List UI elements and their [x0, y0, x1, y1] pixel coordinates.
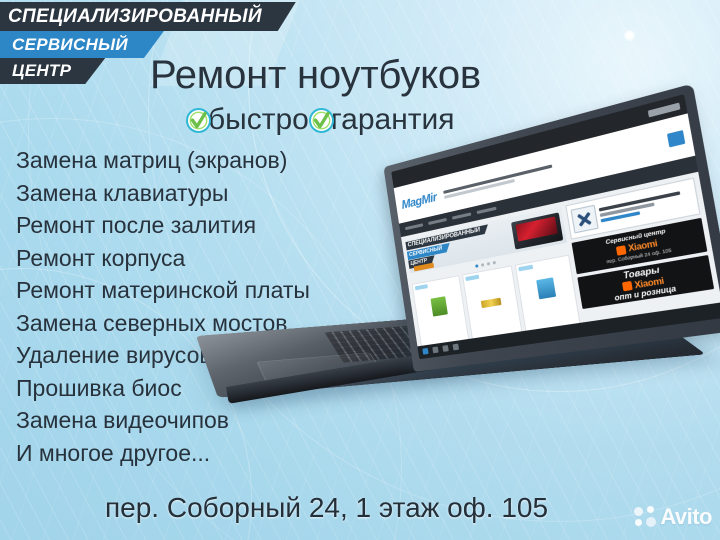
tools-icon: [570, 204, 598, 233]
xiaomi-logo-icon: [616, 245, 627, 256]
site-logo: MagMir: [401, 190, 438, 212]
screen-service-card-text: [599, 189, 694, 223]
avito-watermark: Avito: [634, 504, 712, 530]
address-text: пер. Соборный 24, 1 этаж оф. 105: [105, 492, 548, 524]
start-icon: [422, 348, 428, 355]
cart-icon: [648, 102, 681, 117]
taskbar-icon: [453, 344, 460, 351]
taskbar-icon: [442, 345, 448, 352]
laptop-illustration: MagMir СПЕЦИАЛИЗИРОВАННЫЙ СЕРВИСНЫЙ ЦЕНТ…: [196, 160, 712, 460]
page-title: Ремонт ноутбуков: [150, 53, 481, 98]
avito-label: Avito: [660, 504, 712, 530]
green-check-circle-icon: [186, 108, 211, 133]
advertisement-image: СПЕЦИАЛИЗИРОВАННЫЙ СЕРВИСНЫЙ ЦЕНТР Ремон…: [0, 0, 720, 540]
banner-line-specialized: СПЕЦИАЛИЗИРОВАННЫЙ: [0, 2, 296, 31]
badge-label-warranty: гарантия: [331, 103, 455, 137]
search-icon: [667, 130, 685, 147]
badge-label-fast: быстро: [208, 103, 309, 137]
banner-line-service: СЕРВИСНЫЙ: [0, 31, 164, 58]
green-check-circle-icon: [309, 108, 334, 133]
screen-promo-laptop-image: [511, 212, 563, 249]
subtitle-badges: быстро гарантия: [186, 103, 455, 137]
glow-dot: [624, 30, 635, 41]
taskbar-icon: [432, 347, 438, 354]
xiaomi-logo-icon: [622, 281, 633, 291]
avito-dots-logo-icon: [634, 506, 656, 528]
